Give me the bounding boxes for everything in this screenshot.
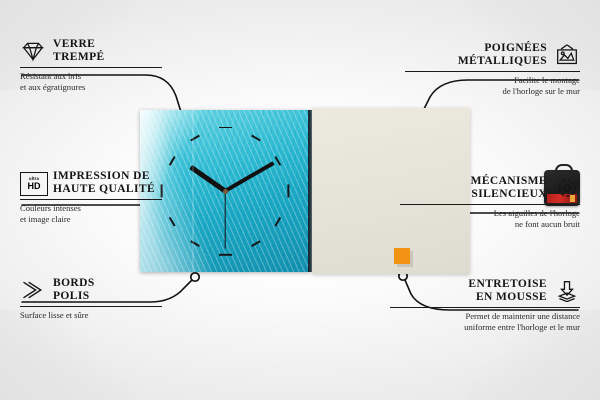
callout-title: IMPRESSION DE HAUTE QUALITÉ <box>53 170 155 196</box>
connector-dot-bords-polis <box>191 273 199 281</box>
callout-bords-polis: BORDS POLIS Surface lisse et sûre <box>20 277 170 321</box>
clock-minute-hand <box>224 161 274 192</box>
callout-title: VERRE TREMPÉ <box>53 38 105 64</box>
callout-mecanisme-silencieux: MÉCANISME SILENCIEUX Les aiguilles de l'… <box>400 175 580 230</box>
callout-impression-haute-qualite: ultra HD IMPRESSION DE HAUTE QUALITÉ Cou… <box>20 170 170 225</box>
callout-rule <box>390 307 580 308</box>
infographic-canvas: VERRE TREMPÉ Résistant aux bris et aux é… <box>0 0 600 400</box>
clock-tick <box>219 254 232 256</box>
clock-tick <box>275 217 281 226</box>
diagonal-lines-icon <box>20 279 46 301</box>
callout-subtitle: Couleurs intenses et image claire <box>20 203 170 225</box>
clock-tick <box>275 156 281 165</box>
callout-subtitle: Permet de maintenir une distance uniform… <box>390 311 580 333</box>
clock-tick <box>190 135 199 141</box>
callout-title: ENTRETOISE EN MOUSSE <box>468 278 547 304</box>
callout-title: MÉCANISME SILENCIEUX <box>471 175 547 201</box>
callout-rule <box>405 71 580 72</box>
clock-tick <box>251 240 260 246</box>
clock-tick <box>190 240 199 246</box>
gear-icon <box>554 177 580 199</box>
clock-hour-hand <box>189 165 226 193</box>
callout-rule <box>400 204 580 205</box>
corner-shade-bottom-left <box>0 310 130 400</box>
callout-rule <box>20 199 162 200</box>
callout-entretoise-en-mousse: ENTRETOISE EN MOUSSE Permet de maintenir… <box>390 278 580 333</box>
diamond-icon <box>20 40 46 62</box>
callout-poignees-metalliques: POIGNÉES MÉTALLIQUES Facilite le montage… <box>405 42 580 97</box>
ultra-hd-icon: ultra HD <box>20 172 46 194</box>
clock-second-hand <box>224 191 225 249</box>
callout-subtitle: Facilite le montage de l'horloge sur le … <box>405 75 580 97</box>
clock-tick <box>251 135 260 141</box>
callout-title: POIGNÉES MÉTALLIQUES <box>458 42 547 68</box>
callout-rule <box>20 67 162 68</box>
picture-frame-icon <box>554 44 580 66</box>
clock-center-hub <box>223 189 228 194</box>
callout-subtitle: Résistant aux bris et aux égratignures <box>20 71 170 93</box>
clock-tick <box>169 156 175 165</box>
arrow-down-layers-icon <box>554 280 580 302</box>
callout-subtitle: Les aiguilles de l'horloge ne font aucun… <box>400 208 580 230</box>
callout-title: BORDS POLIS <box>53 277 95 303</box>
foam-spacer <box>394 248 410 264</box>
callout-verre-trempe: VERRE TREMPÉ Résistant aux bris et aux é… <box>20 38 170 93</box>
clock-tick <box>219 127 232 129</box>
callout-subtitle: Surface lisse et sûre <box>20 310 170 321</box>
ultra-hd-main-label: HD <box>28 182 41 191</box>
callout-rule <box>20 306 162 307</box>
clock-tick <box>288 184 290 197</box>
